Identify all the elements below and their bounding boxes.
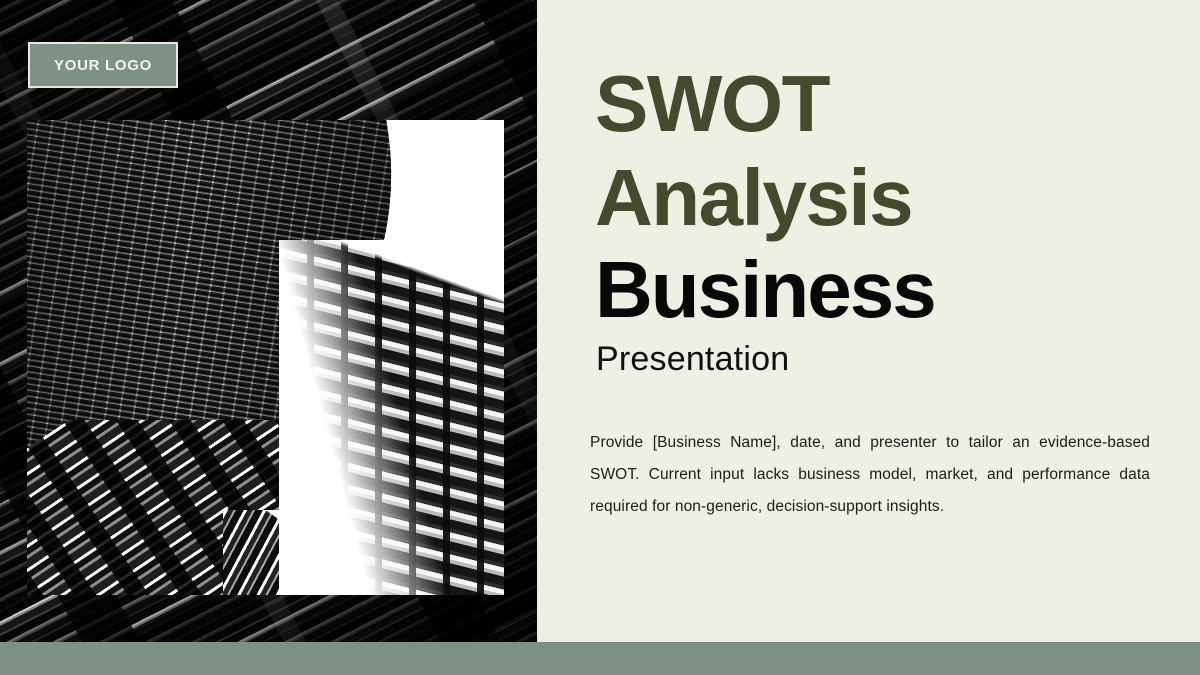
logo-placeholder[interactable]: YOUR LOGO (28, 42, 178, 88)
left-image-panel: YOUR LOGO (0, 0, 537, 642)
sky-mask-top (279, 240, 504, 595)
right-content-panel: SWOT Analysis Business Presentation (537, 0, 1200, 642)
bottom-accent-bar (0, 642, 1200, 675)
slide-canvas: YOUR LOGO SWOT Analysis Business Present… (0, 0, 1200, 675)
logo-label: YOUR LOGO (54, 57, 152, 74)
title-line-analysis: Analysis (595, 160, 912, 237)
inset-skyscraper-photo (27, 120, 504, 595)
body-paragraph: Provide [Business Name], date, and prese… (590, 427, 1150, 523)
nested-balcony-block-right (279, 240, 504, 595)
title-line-business: Business (595, 252, 935, 329)
title-subtitle: Presentation (596, 340, 789, 379)
title-line-swot: SWOT (595, 66, 829, 143)
